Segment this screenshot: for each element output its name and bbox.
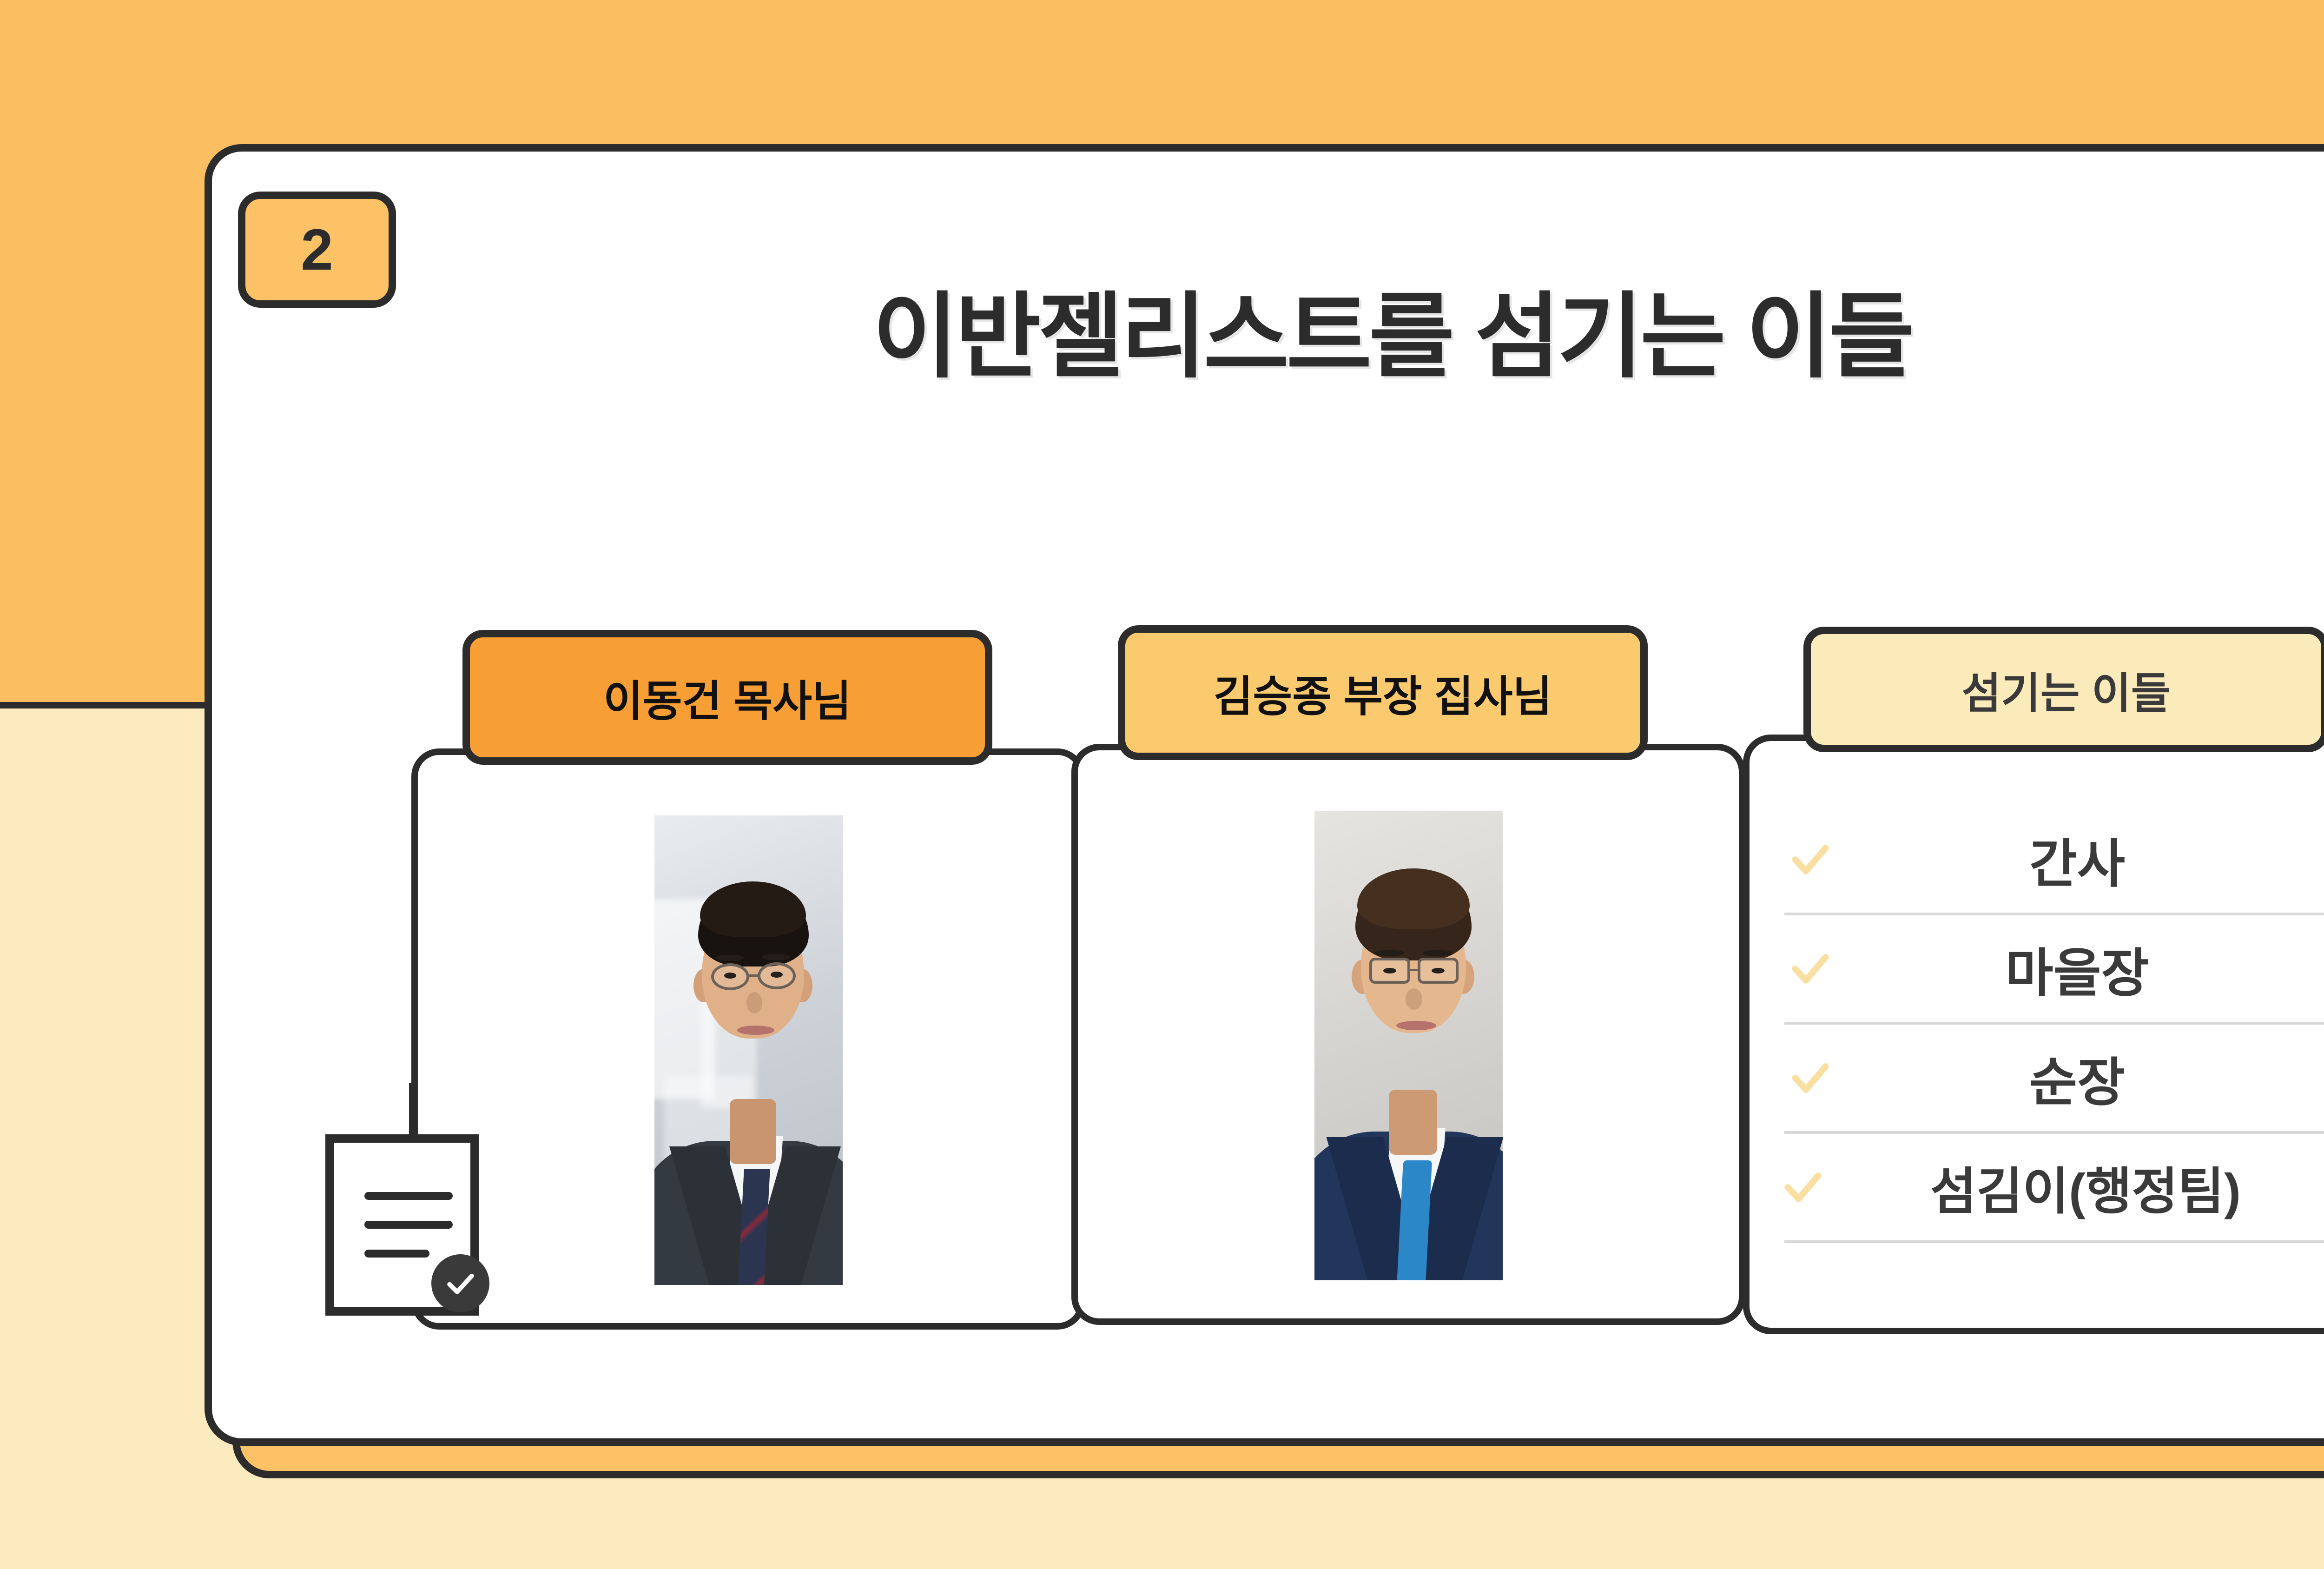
document-line-2 — [364, 1221, 453, 1229]
check-icon — [1789, 947, 1832, 990]
person-card-2 — [1071, 744, 1745, 1325]
check-icon — [1782, 1166, 1824, 1209]
service-badge: 섬기는 이들 — [1803, 627, 2324, 752]
list-item-label: 순장 — [1784, 1040, 2324, 1116]
list-item[interactable]: 섬김이(행정팀) — [1784, 1134, 2324, 1243]
document-line-3 — [364, 1250, 429, 1258]
list-item-label: 간사 — [1784, 822, 2324, 897]
person-badge-label-1: 이동건 목사님 — [603, 667, 851, 728]
list-item-label: 마을장 — [1784, 931, 2324, 1006]
avatar-photo-1 — [654, 815, 843, 1285]
person-badge-1: 이동건 목사님 — [462, 630, 992, 765]
slide-number-label: 2 — [301, 221, 333, 279]
service-card: 간사 마을장 순장 — [1743, 735, 2324, 1334]
document-icon — [325, 1134, 497, 1320]
person-column-2: 김승종 부장 집사님 — [1071, 744, 1745, 1325]
list-item[interactable]: 간사 — [1784, 806, 2324, 915]
person-card-1 — [411, 748, 1085, 1330]
service-list: 간사 마을장 순장 — [1784, 806, 2324, 1243]
document-line-1 — [364, 1192, 453, 1200]
person-column-1: 이동건 목사님 — [411, 748, 1085, 1330]
service-badge-label: 섬기는 이들 — [1962, 659, 2171, 721]
person-badge-2: 김승종 부장 집사님 — [1118, 625, 1648, 760]
person-badge-label-2: 김승종 부장 집사님 — [1214, 662, 1552, 724]
check-icon — [1789, 1057, 1832, 1099]
list-item-label: 섬김이(행정팀) — [1784, 1151, 2324, 1224]
check-icon — [1789, 838, 1832, 881]
list-item[interactable]: 순장 — [1784, 1025, 2324, 1134]
list-item[interactable]: 마을장 — [1784, 915, 2324, 1025]
service-column: 간사 마을장 순장 — [1743, 735, 2324, 1334]
avatar-photo-2 — [1314, 811, 1503, 1280]
document-stem — [409, 1083, 417, 1139]
check-circle-icon — [431, 1254, 489, 1312]
page-title: 이반젤리스트를 섬기는 이들 — [205, 279, 2324, 395]
